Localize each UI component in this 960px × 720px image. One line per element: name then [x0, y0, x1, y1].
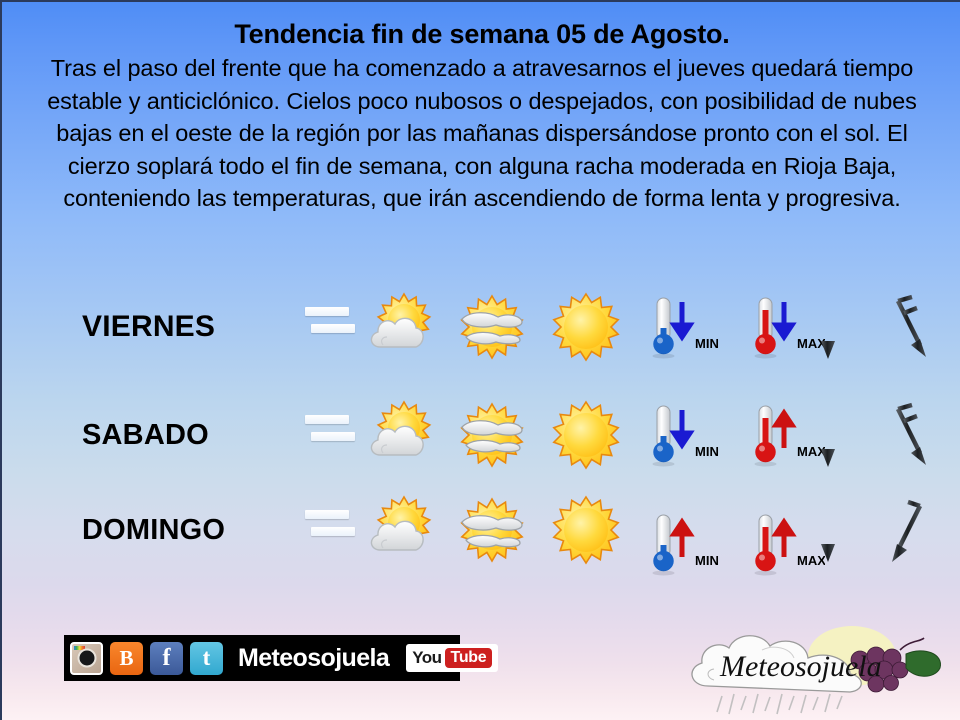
social-media-bar: B f t Meteosojuela You Tube: [64, 635, 460, 681]
header: Tendencia fin de semana 05 de Agosto. Tr…: [2, 16, 960, 215]
temperature-trend-group: MINMAX: [647, 385, 825, 485]
sun-behind-cloud-icon: [362, 399, 434, 471]
temperature-trend-group: MINMAX: [647, 494, 825, 594]
clear-sun-icon: [550, 494, 622, 566]
forecast-row: DOMINGOMINMAX: [2, 480, 960, 580]
mist-equals-icon: [305, 415, 353, 455]
wind-icon-group: [812, 385, 934, 485]
svg-text:MIN: MIN: [695, 444, 719, 459]
twitter-icon[interactable]: t: [190, 642, 223, 675]
youtube-icon[interactable]: You Tube: [406, 644, 498, 672]
sun-behind-haze-icon: [456, 494, 528, 566]
twitter-glyph: t: [190, 642, 223, 675]
youtube-you-text: You: [412, 648, 441, 668]
wind-icon-group: [812, 277, 934, 377]
clear-sun-icon: [550, 291, 622, 363]
svg-text:MIN: MIN: [695, 553, 719, 568]
instagram-lens: [77, 649, 96, 668]
mist-bar-bottom: [311, 527, 355, 536]
mist-bar-bottom: [311, 324, 355, 333]
min-temp-thermometer: MIN: [647, 509, 723, 579]
wind-barb-north-2-icon: [812, 494, 860, 566]
instagram-icon[interactable]: [70, 642, 103, 675]
day-label: DOMINGO: [82, 480, 225, 580]
wind-barb-northwest-3-icon: [886, 291, 934, 363]
min-temp-thermometer: MIN: [647, 292, 723, 362]
mist-equals-icon: [305, 307, 353, 347]
sky-icon-group: [362, 385, 622, 485]
forecast-row: VIERNESMINMAX: [2, 277, 960, 377]
min-temp-thermometer: MIN: [647, 400, 723, 470]
page-title: Tendencia fin de semana 05 de Agosto.: [2, 16, 960, 52]
brand-name: Meteosojuela: [238, 644, 389, 673]
mist-bar-top: [305, 307, 349, 316]
forecast-row: SABADOMINMAX: [2, 385, 960, 485]
sun-behind-cloud-icon: [362, 494, 434, 566]
watermark-logo: Meteosojuela: [674, 620, 960, 720]
facebook-icon[interactable]: f: [150, 642, 183, 675]
watermark-grape-stem: [900, 638, 924, 650]
clear-sun-icon: [550, 399, 622, 471]
sun-behind-haze-icon: [456, 399, 528, 471]
sky-icon-group: [362, 480, 622, 580]
mist-bar-bottom: [311, 432, 355, 441]
wind-barb-northwest-3-icon: [886, 399, 934, 471]
wind-icon-group: [812, 480, 934, 580]
day-label: VIERNES: [82, 277, 215, 377]
mist-equals-icon: [305, 510, 353, 550]
watermark-rain: [717, 694, 842, 714]
blogger-glyph: B: [110, 642, 143, 675]
weather-forecast-graphic: Tendencia fin de semana 05 de Agosto. Tr…: [0, 0, 960, 720]
temperature-trend-group: MINMAX: [647, 277, 825, 377]
svg-text:MIN: MIN: [695, 336, 719, 351]
mist-bar-top: [305, 510, 349, 519]
sky-icon-group: [362, 277, 622, 377]
watermark-text: Meteosojuela: [719, 650, 882, 683]
mist-bar-top: [305, 415, 349, 424]
sun-behind-cloud-icon: [362, 291, 434, 363]
wind-barb-northwest-1-icon: [886, 494, 934, 566]
youtube-tube-text: Tube: [445, 648, 493, 668]
blogger-icon[interactable]: B: [110, 642, 143, 675]
watermark-grape-leaf: [906, 651, 941, 676]
wind-barb-north-2-icon: [812, 399, 860, 471]
facebook-glyph: f: [150, 642, 183, 675]
sun-behind-haze-icon: [456, 291, 528, 363]
day-label: SABADO: [82, 385, 209, 485]
forecast-summary-text: Tras el paso del frente que ha comenzado…: [2, 52, 960, 215]
wind-barb-north-2-icon: [812, 291, 860, 363]
